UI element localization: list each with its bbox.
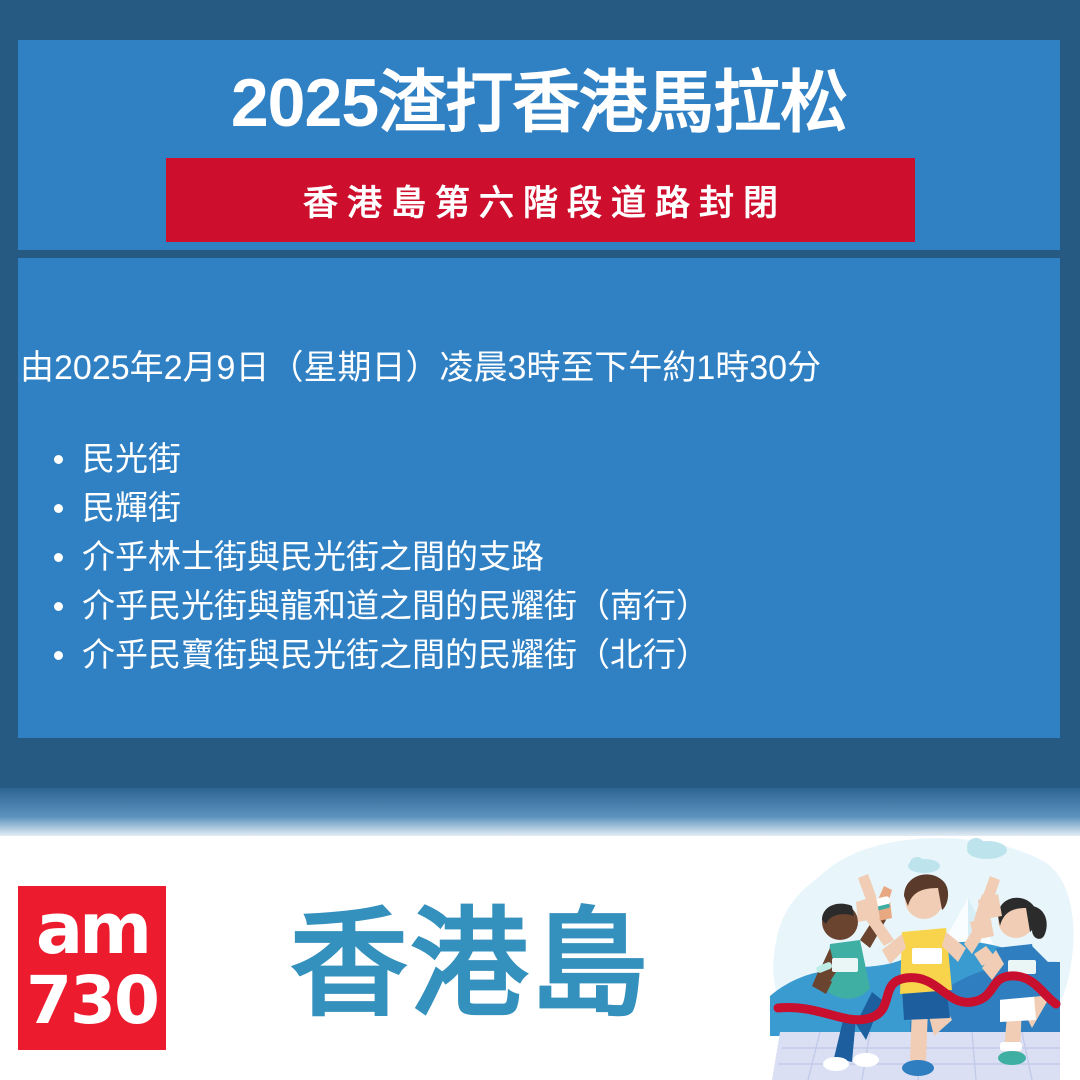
- district-wordmark: 香港島: [290, 890, 650, 1040]
- list-item: 介乎民光街與龍和道之間的民耀街（南行）: [82, 581, 1062, 630]
- list-item-label: 介乎民光街與龍和道之間的民耀街（南行）: [82, 587, 709, 624]
- list-item-label: 介乎林士街與民光街之間的支路: [82, 538, 544, 575]
- bullet-icon: [54, 602, 63, 611]
- road-closure-list: 民光街 民輝街 介乎林士街與民光街之間的支路 介乎民光街與龍和道之間的民耀街（南…: [40, 434, 1062, 679]
- list-item: 民輝街: [82, 483, 1062, 532]
- closure-time-text: 由2025年2月9日（星期日）凌晨3時至下午約1時30分: [20, 345, 1040, 391]
- am730-logo: am 730: [18, 886, 166, 1050]
- list-item-label: 民光街: [82, 440, 181, 477]
- page-title: 2025渣打香港馬拉松: [18, 55, 1060, 151]
- gradient-divider: [0, 788, 1080, 840]
- list-item-label: 介乎民寶街與民光街之間的民耀街（北行）: [82, 636, 709, 673]
- bullet-icon: [54, 651, 63, 660]
- list-item: 介乎林士街與民光街之間的支路: [82, 532, 1062, 581]
- list-item: 民光街: [82, 434, 1062, 483]
- bullet-icon: [54, 455, 63, 464]
- runners-illustration: [760, 836, 1080, 1080]
- am730-logo-am-text: am: [18, 890, 166, 968]
- poster-canvas: 2025渣打香港馬拉松 香港島第六階段道路封閉 由2025年2月9日（星期日）凌…: [0, 0, 1080, 1080]
- footer: am 730 香港島: [0, 836, 1080, 1080]
- status-badge: 香港島第六階段道路封閉: [166, 158, 915, 242]
- bullet-icon: [54, 553, 63, 562]
- list-item: 介乎民寶街與民光街之間的民耀街（北行）: [82, 630, 1062, 679]
- list-item-label: 民輝街: [82, 489, 181, 526]
- status-badge-label: 香港島第六階段道路封閉: [294, 175, 787, 226]
- bullet-icon: [54, 504, 63, 513]
- am730-logo-730-text: 730: [18, 962, 166, 1040]
